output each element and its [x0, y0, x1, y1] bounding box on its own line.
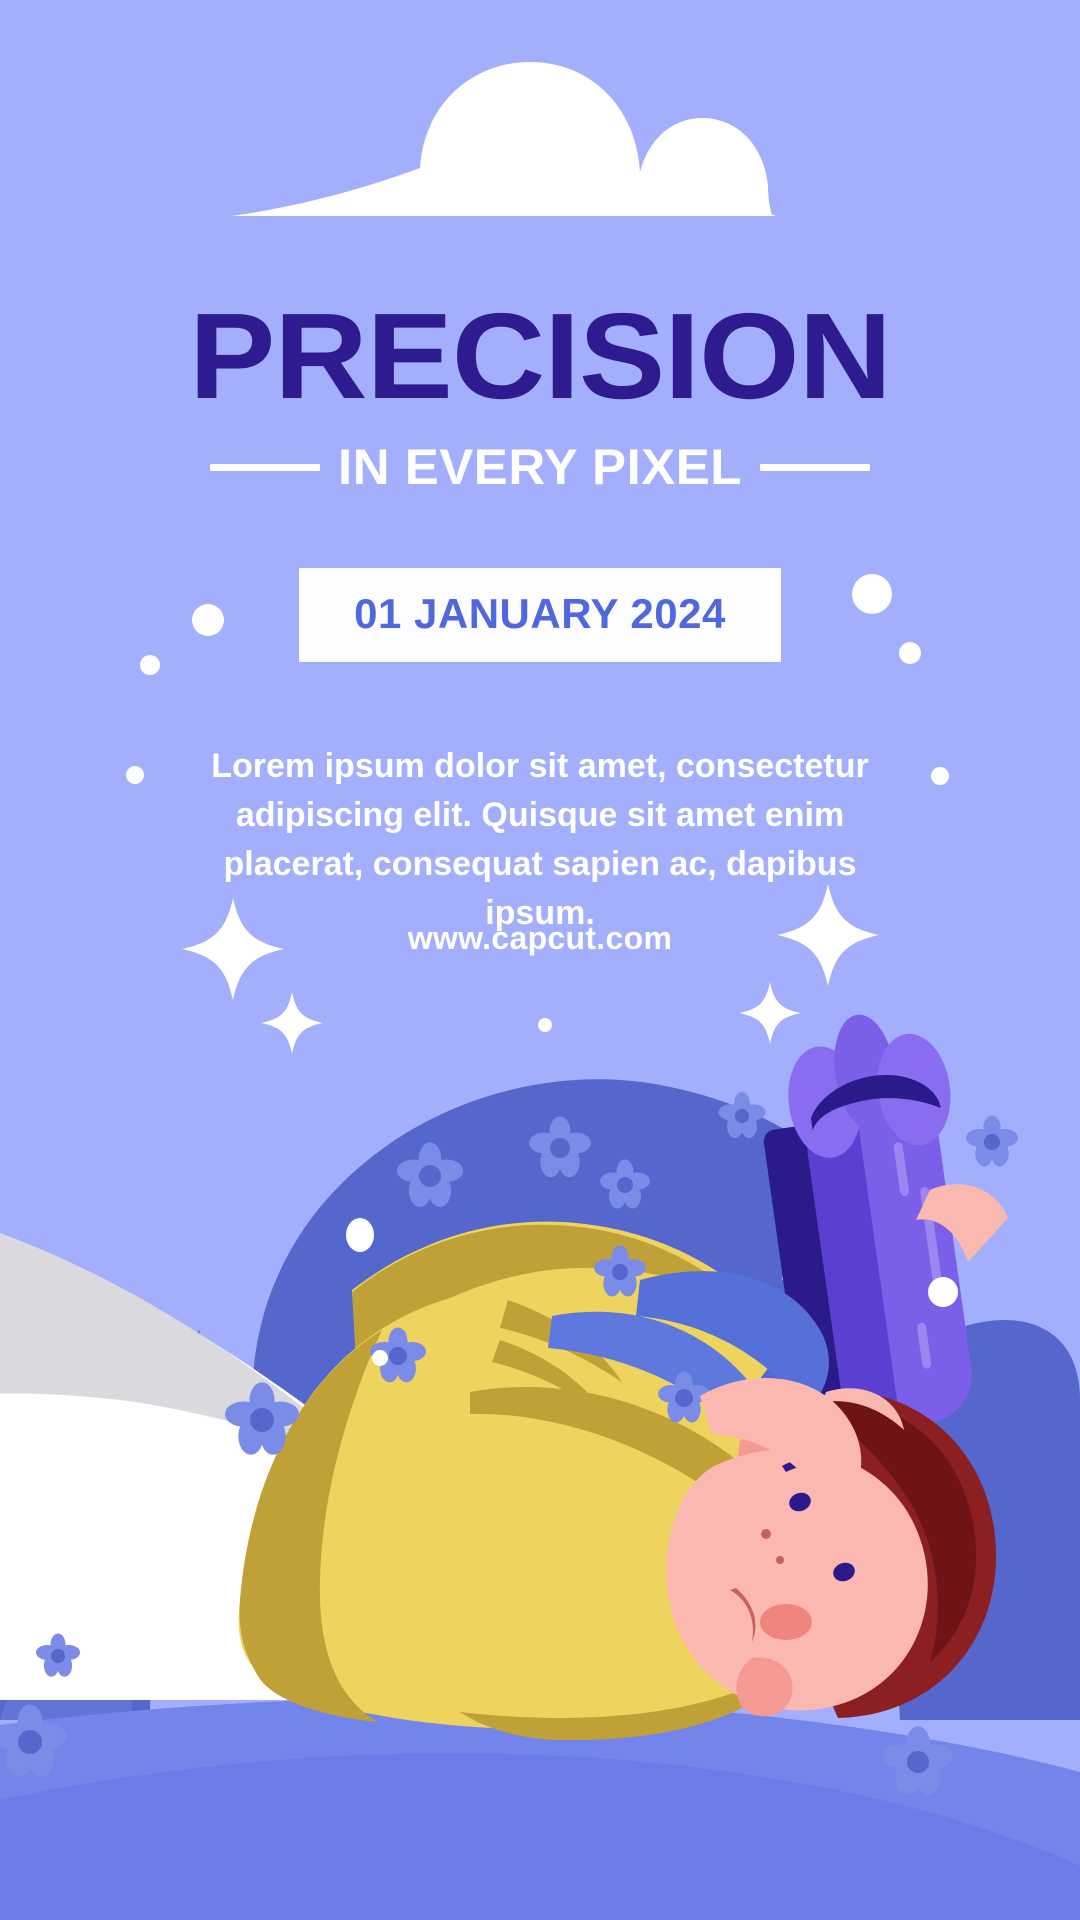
poster-canvas: PRECISION IN EVERY PIXEL 01 JANUARY 2024…	[0, 0, 1080, 1920]
rule-right	[760, 464, 870, 471]
page-title: PRECISION	[0, 300, 1080, 412]
body-paragraph: Lorem ipsum dolor sit amet, consectetur …	[170, 742, 910, 938]
title-block: PRECISION IN EVERY PIXEL	[0, 300, 1080, 496]
page-subtitle: IN EVERY PIXEL	[338, 438, 742, 496]
text-layer: PRECISION IN EVERY PIXEL 01 JANUARY 2024…	[0, 0, 1080, 1920]
date-badge: 01 JANUARY 2024	[299, 568, 781, 662]
website-url[interactable]: www.capcut.com	[170, 920, 910, 957]
subtitle-row: IN EVERY PIXEL	[0, 438, 1080, 496]
rule-left	[210, 464, 320, 471]
date-text: 01 JANUARY 2024	[354, 590, 726, 637]
